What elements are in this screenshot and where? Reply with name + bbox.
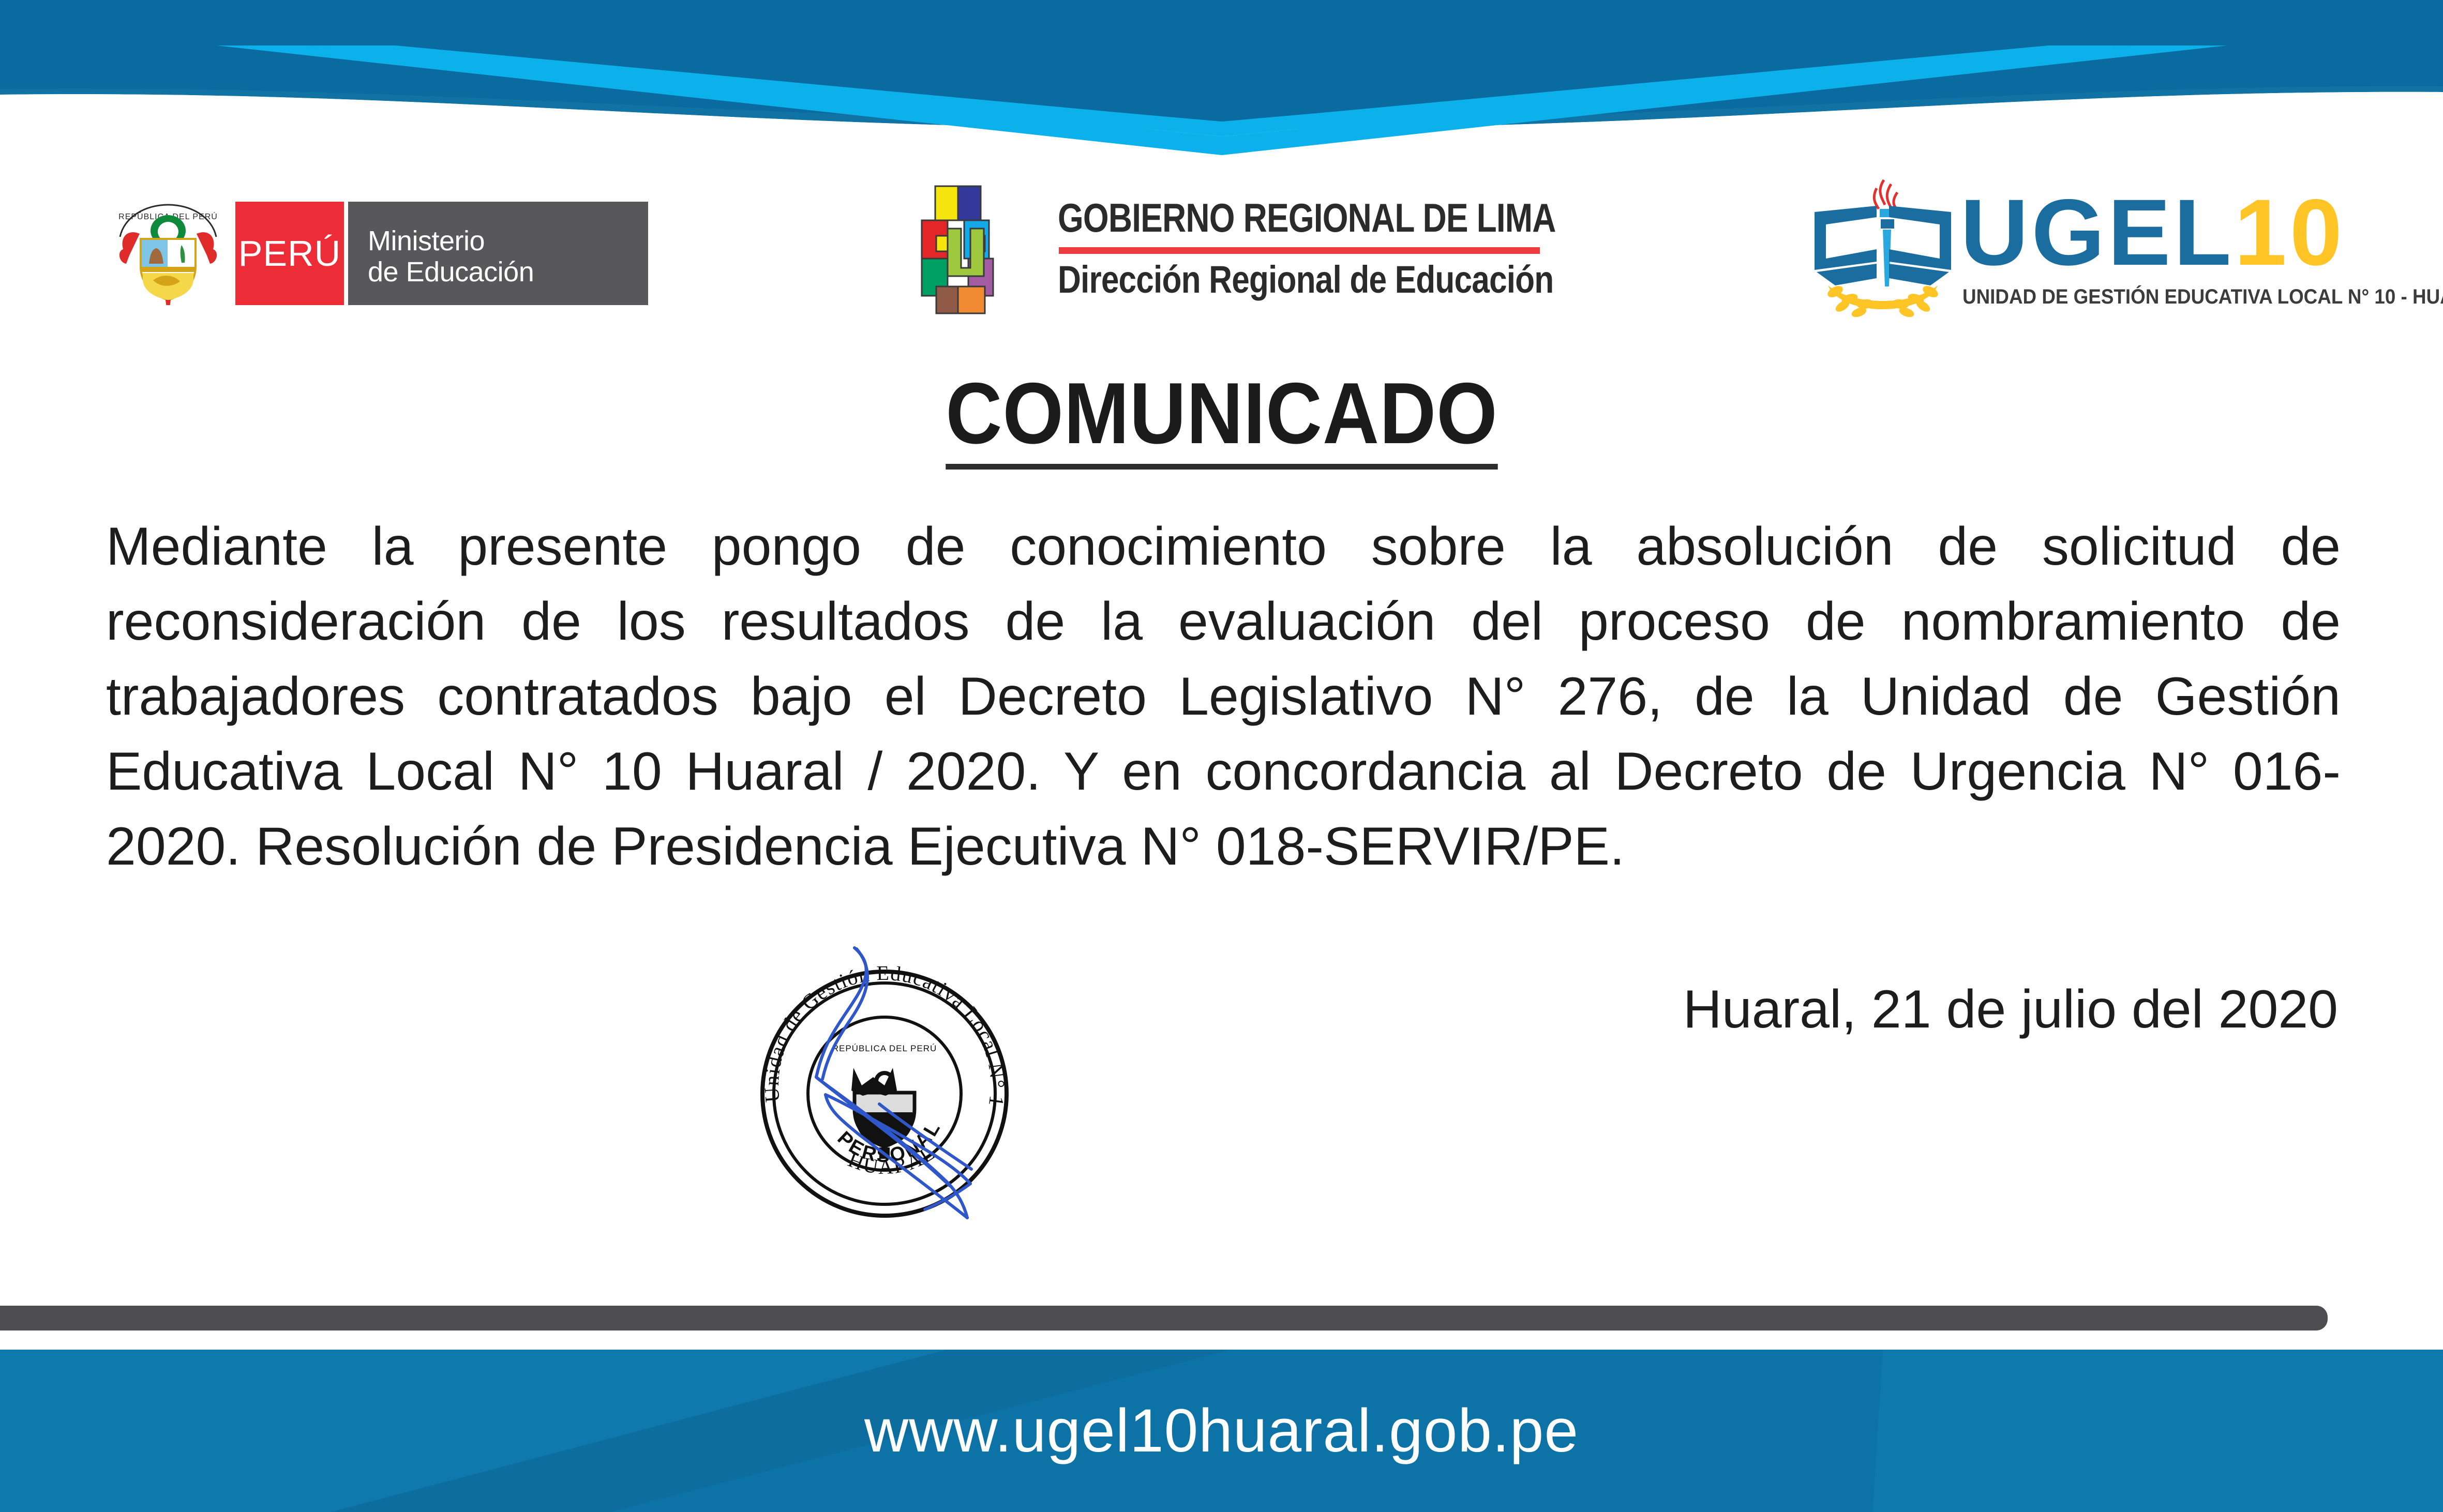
peru-label: PERÚ (235, 233, 344, 274)
logo-row: REPÚBLICA DEL PERÚ PERÚ Ministerio de Ed… (0, 171, 2443, 321)
page-title: COMUNICADO (946, 370, 1497, 470)
ugel-word: UGEL (1960, 179, 2235, 285)
ugel-wordmark: UGEL10 (1960, 185, 2345, 279)
grl-red-rule (1059, 247, 1540, 254)
grl-title: GOBIERNO REGIONAL DE LIMA (1058, 194, 1556, 241)
ugel-book-torch-icon (1805, 171, 1960, 321)
logo-ugel-10: UGEL10 UNIDAD DE GESTIÓN EDUCATIVA LOCAL… (1805, 171, 2395, 321)
logo-gobierno-regional-lima: GOBIERNO REGIONAL DE LIMA Dirección Regi… (921, 171, 1603, 321)
logo-ministerio-educacion: REPÚBLICA DEL PERÚ PERÚ Ministerio de Ed… (103, 171, 662, 321)
peru-coat-of-arms-icon: REPÚBLICA DEL PERÚ (109, 202, 228, 305)
gobierno-regional-blocks-icon (921, 185, 1045, 314)
svg-text:REPÚBLICA DEL PERÚ: REPÚBLICA DEL PERÚ (832, 1044, 937, 1053)
page-title-wrapper: COMUNICADO (0, 370, 2443, 470)
footer-gray-divider (0, 1306, 2328, 1330)
ministerio-line-1: Ministerio (368, 226, 485, 256)
official-seal-stamp: Unidad de Gestión Educativa Local N° 10 … (724, 939, 1045, 1249)
place-and-date: Huaral, 21 de julio del 2020 (1500, 982, 2338, 1036)
header-wave-svg (0, 0, 2443, 155)
ministerio-line-2: de Educación (368, 258, 534, 287)
ugel-subtitle: UNIDAD DE GESTIÓN EDUCATIVA LOCAL N° 10 … (1962, 285, 2443, 309)
seal-svg: Unidad de Gestión Educativa Local N° 10 … (724, 939, 1045, 1249)
ugel-number: 10 (2235, 179, 2345, 285)
ministerio-gray-block: Ministerio de Educación (348, 202, 648, 305)
grl-subtitle: Dirección Regional de Educación (1058, 258, 1553, 301)
peru-red-block: PERÚ (235, 202, 344, 305)
footer-band: www.ugel10huaral.gob.pe (0, 1350, 2443, 1512)
announcement-paragraph: Mediante la presente pongo de conocimien… (106, 509, 2341, 884)
announcement-body: Mediante la presente pongo de conocimien… (106, 509, 2341, 884)
header-decorative-banner (0, 0, 2443, 155)
footer-website-url[interactable]: www.ugel10huaral.gob.pe (0, 1350, 2443, 1512)
